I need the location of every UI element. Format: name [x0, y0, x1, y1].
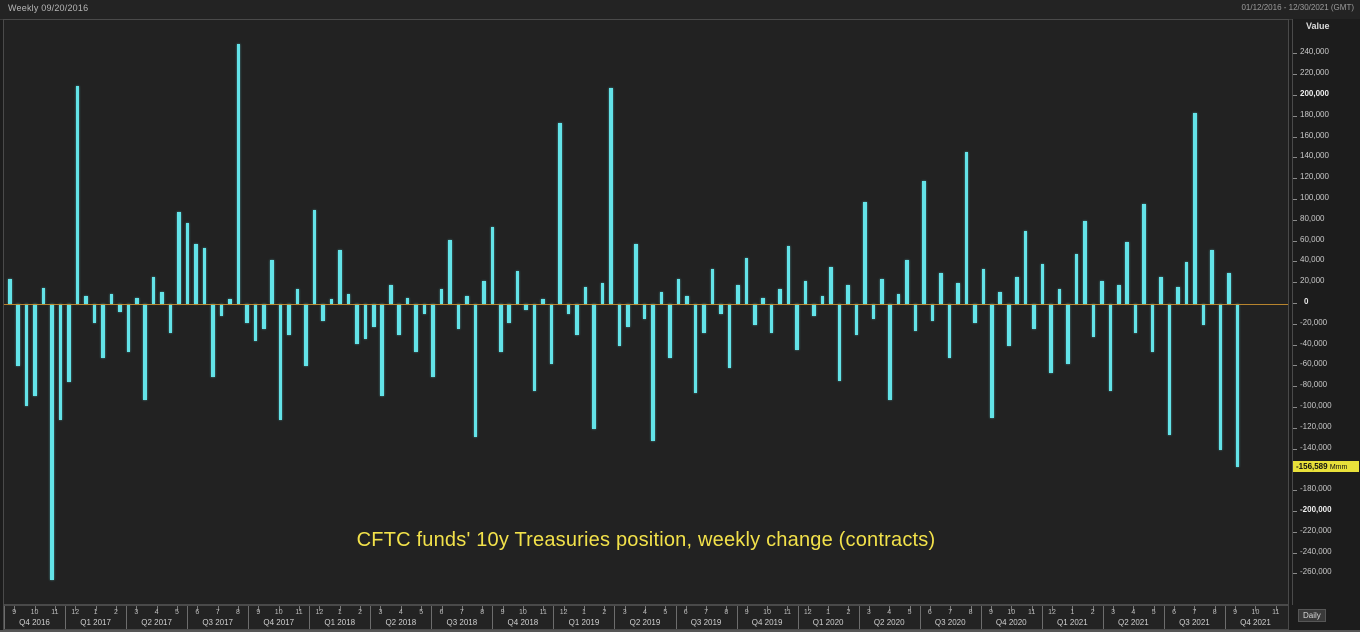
bar[interactable]	[998, 292, 1002, 304]
time-axis-quarter[interactable]: Q3 2020678	[920, 606, 981, 629]
quarter-separator	[431, 606, 432, 629]
bar[interactable]	[1024, 231, 1028, 304]
value-axis-tick: 220,000	[1292, 74, 1360, 75]
tick-label: -20,000	[1300, 318, 1327, 327]
value-axis[interactable]: Value 240,000220,000200,000180,000160,00…	[1292, 19, 1360, 605]
bar[interactable]	[905, 260, 909, 304]
bar[interactable]	[152, 277, 156, 304]
time-axis-quarter[interactable]: Q3 2019678	[676, 606, 737, 629]
bar[interactable]	[634, 244, 638, 304]
month-number: 1	[826, 609, 830, 616]
bar[interactable]	[491, 227, 495, 304]
bar[interactable]	[1066, 304, 1070, 364]
bar[interactable]	[1227, 273, 1231, 304]
quarter-separator	[981, 606, 982, 629]
bar[interactable]	[245, 304, 249, 323]
time-axis-quarter[interactable]: Q4 201791011	[248, 606, 309, 629]
month-number: 10	[1007, 609, 1015, 616]
bar[interactable]	[1159, 277, 1163, 304]
bar[interactable]	[558, 123, 562, 304]
quarter-separator	[676, 606, 677, 629]
tick-mark	[1293, 428, 1297, 429]
bar[interactable]	[499, 304, 503, 352]
month-number: 11	[51, 609, 58, 616]
bar[interactable]	[770, 304, 774, 333]
quarter-separator	[492, 606, 493, 629]
value-axis-tick: -40,000	[1292, 345, 1360, 346]
month-number: 6	[195, 609, 199, 616]
month-number: 10	[519, 609, 527, 616]
month-number: 11	[295, 609, 302, 616]
time-axis-quarter[interactable]: Q1 20171212	[65, 606, 126, 629]
quarter-label: Q2 2017	[126, 618, 187, 627]
month-number: 3	[623, 609, 627, 616]
month-number: 10	[31, 609, 39, 616]
quarter-separator	[1225, 606, 1226, 629]
quarter-separator	[248, 606, 249, 629]
bar[interactable]	[127, 304, 131, 352]
bar[interactable]	[203, 248, 207, 304]
bar[interactable]	[982, 269, 986, 304]
month-number: 6	[440, 609, 444, 616]
tick-mark	[1293, 157, 1297, 158]
bar[interactable]	[711, 269, 715, 304]
bar[interactable]	[76, 86, 80, 304]
bar[interactable]	[1007, 304, 1011, 346]
month-number: 8	[236, 609, 240, 616]
quarter-label: Q3 2020	[920, 618, 981, 627]
bar[interactable]	[728, 304, 732, 368]
quarter-label: Q2 2020	[859, 618, 920, 627]
bar-chart-plot-area[interactable]	[4, 20, 1288, 604]
bar[interactable]	[795, 304, 799, 350]
quarter-separator	[1103, 606, 1104, 629]
value-axis-header: Value	[1306, 21, 1330, 31]
bar[interactable]	[118, 304, 122, 312]
quarter-label: Q2 2018	[370, 618, 431, 627]
tick-mark	[1293, 74, 1297, 75]
value-axis-tick: 20,000	[1292, 282, 1360, 283]
bar[interactable]	[25, 304, 29, 406]
tick-mark	[1293, 116, 1297, 117]
value-axis-tick: 240,000	[1292, 53, 1360, 54]
tick-mark	[1293, 407, 1297, 408]
month-number: 10	[275, 609, 283, 616]
quarter-label: Q3 2018	[431, 618, 492, 627]
time-axis-quarter[interactable]: Q2 2019345	[614, 606, 675, 629]
bar[interactable]	[355, 304, 359, 344]
month-number: 12	[71, 609, 79, 616]
time-axis-quarter[interactable]: Q3 2017678	[187, 606, 248, 629]
bar[interactable]	[719, 304, 723, 314]
bar[interactable]	[397, 304, 401, 335]
bar[interactable]	[321, 304, 325, 321]
bar[interactable]	[1210, 250, 1214, 304]
bar[interactable]	[33, 304, 37, 396]
quarter-label: Q4 2018	[492, 618, 553, 627]
time-axis-quarter[interactable]: Q4 201691011	[4, 606, 65, 629]
month-number: 3	[379, 609, 383, 616]
time-axis-quarter[interactable]: Q4 202191011	[1225, 606, 1286, 629]
value-axis-tick: 200,000	[1292, 95, 1360, 96]
bar[interactable]	[457, 304, 461, 329]
quarter-label: Q4 2017	[248, 618, 309, 627]
bar[interactable]	[736, 285, 740, 304]
bar[interactable]	[660, 292, 664, 304]
month-number: 10	[1252, 609, 1260, 616]
bar[interactable]	[211, 304, 215, 377]
tick-mark	[1293, 53, 1297, 54]
month-number: 9	[12, 609, 16, 616]
bar[interactable]	[1058, 289, 1062, 304]
bar[interactable]	[67, 304, 71, 382]
bar[interactable]	[262, 304, 266, 329]
bar[interactable]	[829, 267, 833, 304]
bar[interactable]	[948, 304, 952, 358]
bar[interactable]	[1092, 304, 1096, 337]
time-axis-quarter[interactable]: Q4 202091011	[981, 606, 1042, 629]
bar[interactable]	[584, 287, 588, 304]
bar[interactable]	[922, 181, 926, 304]
bar[interactable]	[448, 240, 452, 304]
bar[interactable]	[643, 304, 647, 319]
tick-mark	[1293, 178, 1297, 179]
bar[interactable]	[939, 273, 943, 304]
bar[interactable]	[101, 304, 105, 358]
quarter-separator	[859, 606, 860, 629]
month-number: 2	[114, 609, 118, 616]
bar[interactable]	[753, 304, 757, 325]
month-number: 5	[908, 609, 912, 616]
bar[interactable]	[694, 304, 698, 393]
month-number: 11	[540, 609, 547, 616]
bar[interactable]	[956, 283, 960, 304]
bar[interactable]	[482, 281, 486, 304]
time-axis-quarter[interactable]: Q1 20181212	[309, 606, 370, 629]
bar[interactable]	[372, 304, 376, 327]
bar[interactable]	[1176, 287, 1180, 304]
bar[interactable]	[838, 304, 842, 381]
bar[interactable]	[1236, 304, 1240, 467]
time-axis-quarter[interactable]: Q2 2017345	[126, 606, 187, 629]
time-axis-quarter[interactable]: Q2 2021345	[1103, 606, 1164, 629]
bar[interactable]	[1049, 304, 1053, 373]
bar[interactable]	[550, 304, 554, 364]
month-number: 7	[948, 609, 952, 616]
value-axis-tick: -120,000	[1292, 428, 1360, 429]
tick-mark	[1293, 386, 1297, 387]
quarter-label: Q4 2021	[1225, 618, 1286, 627]
bar[interactable]	[84, 296, 88, 304]
bar[interactable]	[1193, 113, 1197, 304]
month-number: 12	[804, 609, 812, 616]
time-axis-quarter[interactable]: Q1 20201212	[798, 606, 859, 629]
month-number: 5	[663, 609, 667, 616]
bar[interactable]	[804, 281, 808, 304]
bar[interactable]	[169, 304, 173, 333]
bar[interactable]	[347, 294, 351, 304]
quarter-label: Q1 2020	[798, 618, 859, 627]
bar[interactable]	[872, 304, 876, 319]
bar[interactable]	[186, 223, 190, 304]
bar[interactable]	[846, 285, 850, 304]
month-number: 2	[1091, 609, 1095, 616]
month-number: 11	[784, 609, 791, 616]
bar[interactable]	[287, 304, 291, 335]
bar[interactable]	[1117, 285, 1121, 304]
bar[interactable]	[973, 304, 977, 323]
tick-mark	[1293, 532, 1297, 533]
bar[interactable]	[897, 294, 901, 304]
month-number: 8	[1213, 609, 1217, 616]
bar[interactable]	[592, 304, 596, 429]
last-value-badge: -156,589 Mmm	[1293, 461, 1359, 472]
bar[interactable]	[1083, 221, 1087, 304]
month-number: 6	[1172, 609, 1176, 616]
quarter-label: Q2 2019	[614, 618, 675, 627]
quarter-separator	[126, 606, 127, 629]
value-axis-tick: -260,000	[1292, 573, 1360, 574]
tick-mark	[1293, 573, 1297, 574]
tick-label: -140,000	[1300, 443, 1332, 452]
plot-frame[interactable]: CFTC funds' 10y Treasuries position, wee…	[3, 19, 1289, 605]
time-axis-quarter[interactable]: Q3 2021678	[1164, 606, 1225, 629]
month-number: 7	[704, 609, 708, 616]
bar[interactable]	[304, 304, 308, 366]
last-value-text: -156,589	[1296, 462, 1328, 471]
bar[interactable]	[1100, 281, 1104, 304]
bar[interactable]	[1185, 262, 1189, 304]
bar[interactable]	[516, 271, 520, 304]
time-axis-quarter[interactable]: Q4 201991011	[737, 606, 798, 629]
month-number: 2	[847, 609, 851, 616]
value-axis-spine	[1292, 19, 1293, 605]
time-axis-quarter[interactable]: Q1 20211212	[1042, 606, 1103, 629]
bar[interactable]	[1109, 304, 1113, 391]
quarter-separator	[614, 606, 615, 629]
bar[interactable]	[8, 279, 12, 304]
bar[interactable]	[279, 304, 283, 420]
tick-label: -120,000	[1300, 422, 1332, 431]
last-value-suffix: Mmm	[1330, 464, 1348, 471]
tick-mark	[1293, 490, 1297, 491]
tick-mark	[1293, 95, 1297, 96]
quarter-separator	[1042, 606, 1043, 629]
month-number: 2	[602, 609, 606, 616]
bar[interactable]	[677, 279, 681, 304]
tick-label: 180,000	[1300, 110, 1329, 119]
bar[interactable]	[618, 304, 622, 346]
bar[interactable]	[787, 246, 791, 304]
tick-mark	[1293, 241, 1297, 242]
window-header: Weekly 09/20/2016 01/12/2016 - 12/30/202…	[0, 0, 1360, 20]
bar[interactable]	[575, 304, 579, 335]
value-axis-tick: -80,000	[1292, 386, 1360, 387]
bar[interactable]	[110, 294, 114, 304]
tick-label: 160,000	[1300, 131, 1329, 140]
month-number: 7	[460, 609, 464, 616]
bar[interactable]	[1151, 304, 1155, 352]
month-number: 11	[1028, 609, 1035, 616]
value-axis-tick: 160,000	[1292, 137, 1360, 138]
month-number: 12	[560, 609, 568, 616]
month-number: 8	[480, 609, 484, 616]
quarter-separator	[1164, 606, 1165, 629]
quarter-separator	[370, 606, 371, 629]
tick-label: 140,000	[1300, 151, 1329, 160]
tick-mark	[1293, 303, 1297, 304]
axis-interval-button[interactable]: Daily	[1298, 609, 1326, 622]
bar[interactable]	[143, 304, 147, 400]
month-number: 3	[134, 609, 138, 616]
bar[interactable]	[626, 304, 630, 327]
tick-mark	[1293, 345, 1297, 346]
bar[interactable]	[1134, 304, 1138, 333]
tick-mark	[1293, 137, 1297, 138]
bar[interactable]	[1015, 277, 1019, 304]
tick-mark	[1293, 220, 1297, 221]
value-axis-tick: -140,000	[1292, 449, 1360, 450]
bar[interactable]	[888, 304, 892, 400]
bar[interactable]	[296, 289, 300, 304]
value-axis-tick: -200,000	[1292, 511, 1360, 512]
bar[interactable]	[990, 304, 994, 418]
month-number: 4	[643, 609, 647, 616]
bar[interactable]	[880, 279, 884, 304]
bar[interactable]	[1075, 254, 1079, 304]
bar[interactable]	[1219, 304, 1223, 450]
bar[interactable]	[821, 296, 825, 304]
tick-label: -40,000	[1300, 339, 1327, 348]
quarter-label: Q3 2017	[187, 618, 248, 627]
value-axis-tick: 80,000	[1292, 220, 1360, 221]
value-axis-tick: 60,000	[1292, 241, 1360, 242]
tick-label: 100,000	[1300, 193, 1329, 202]
time-axis-quarter[interactable]: Q1 20191212	[553, 606, 614, 629]
quarter-separator	[920, 606, 921, 629]
time-axis-quarter[interactable]: Q4 201891011	[492, 606, 553, 629]
tick-label: -60,000	[1300, 359, 1327, 368]
bar[interactable]	[160, 292, 164, 304]
month-number: 12	[1048, 609, 1056, 616]
month-number: 9	[745, 609, 749, 616]
month-number: 5	[175, 609, 179, 616]
bar[interactable]	[567, 304, 571, 314]
bar[interactable]	[914, 304, 918, 331]
bar[interactable]	[533, 304, 537, 391]
month-number: 9	[501, 609, 505, 616]
month-number: 9	[1233, 609, 1237, 616]
bar[interactable]	[1125, 242, 1129, 304]
bar[interactable]	[474, 304, 478, 437]
bar[interactable]	[59, 304, 63, 420]
bar[interactable]	[651, 304, 655, 441]
month-number: 1	[338, 609, 342, 616]
bar[interactable]	[507, 304, 511, 323]
bar[interactable]	[1202, 304, 1206, 325]
tick-label: 40,000	[1300, 255, 1324, 264]
tick-label: -80,000	[1300, 380, 1327, 389]
bar[interactable]	[778, 289, 782, 304]
quarter-label: Q1 2019	[553, 618, 614, 627]
bar[interactable]	[338, 250, 342, 304]
month-number: 9	[989, 609, 993, 616]
bar[interactable]	[812, 304, 816, 316]
value-axis-tick: 180,000	[1292, 116, 1360, 117]
bar[interactable]	[465, 296, 469, 304]
bar[interactable]	[254, 304, 258, 341]
bar[interactable]	[237, 44, 241, 304]
bar[interactable]	[389, 285, 393, 304]
bar[interactable]	[380, 304, 384, 396]
bar[interactable]	[177, 212, 181, 304]
tick-label: -220,000	[1300, 526, 1332, 535]
tick-label: 20,000	[1300, 276, 1324, 285]
value-axis-tick: 0	[1292, 303, 1360, 304]
zero-baseline	[4, 304, 1288, 305]
header-date-range: 01/12/2016 - 12/30/2021 (GMT)	[1241, 3, 1354, 12]
time-axis-quarter[interactable]: Q3 2018678	[431, 606, 492, 629]
time-axis-quarter[interactable]: Q2 2018345	[370, 606, 431, 629]
bar[interactable]	[855, 304, 859, 335]
bar[interactable]	[423, 304, 427, 314]
month-number: 1	[1070, 609, 1074, 616]
bar[interactable]	[702, 304, 706, 333]
bar[interactable]	[1142, 204, 1146, 304]
bar[interactable]	[42, 288, 46, 304]
bar[interactable]	[220, 304, 224, 316]
quarter-label: Q2 2021	[1103, 618, 1164, 627]
tick-label: -200,000	[1300, 505, 1332, 514]
bar[interactable]	[1032, 304, 1036, 329]
bar[interactable]	[270, 260, 274, 304]
bar[interactable]	[16, 304, 20, 366]
bar[interactable]	[863, 202, 867, 304]
time-axis[interactable]: Q4 201691011Q1 20171212Q2 2017345Q3 2017…	[3, 605, 1289, 630]
month-number: 11	[1272, 609, 1279, 616]
bar[interactable]	[685, 296, 689, 304]
bar[interactable]	[1041, 264, 1045, 304]
bar[interactable]	[965, 152, 969, 304]
tick-label: -100,000	[1300, 401, 1332, 410]
bar[interactable]	[668, 304, 672, 358]
bar[interactable]	[414, 304, 418, 352]
tick-mark	[1293, 324, 1297, 325]
bar[interactable]	[194, 244, 198, 304]
tick-label: 240,000	[1300, 47, 1329, 56]
bar[interactable]	[313, 210, 317, 304]
bar[interactable]	[431, 304, 435, 377]
bar[interactable]	[609, 88, 613, 304]
bar[interactable]	[440, 289, 444, 304]
chart-application: Weekly 09/20/2016 01/12/2016 - 12/30/202…	[0, 0, 1360, 632]
tick-mark	[1293, 511, 1297, 512]
time-axis-quarter[interactable]: Q2 2020345	[859, 606, 920, 629]
bar[interactable]	[745, 258, 749, 304]
month-number: 6	[684, 609, 688, 616]
chart-title: CFTC funds' 10y Treasuries position, wee…	[4, 529, 1288, 552]
bar[interactable]	[1168, 304, 1172, 435]
bar[interactable]	[601, 283, 605, 304]
quarter-separator	[798, 606, 799, 629]
tick-mark	[1293, 553, 1297, 554]
quarter-label: Q1 2017	[65, 618, 126, 627]
month-number: 4	[1131, 609, 1135, 616]
bar[interactable]	[931, 304, 935, 321]
bar[interactable]	[364, 304, 368, 339]
bar[interactable]	[93, 304, 97, 323]
month-number: 3	[867, 609, 871, 616]
